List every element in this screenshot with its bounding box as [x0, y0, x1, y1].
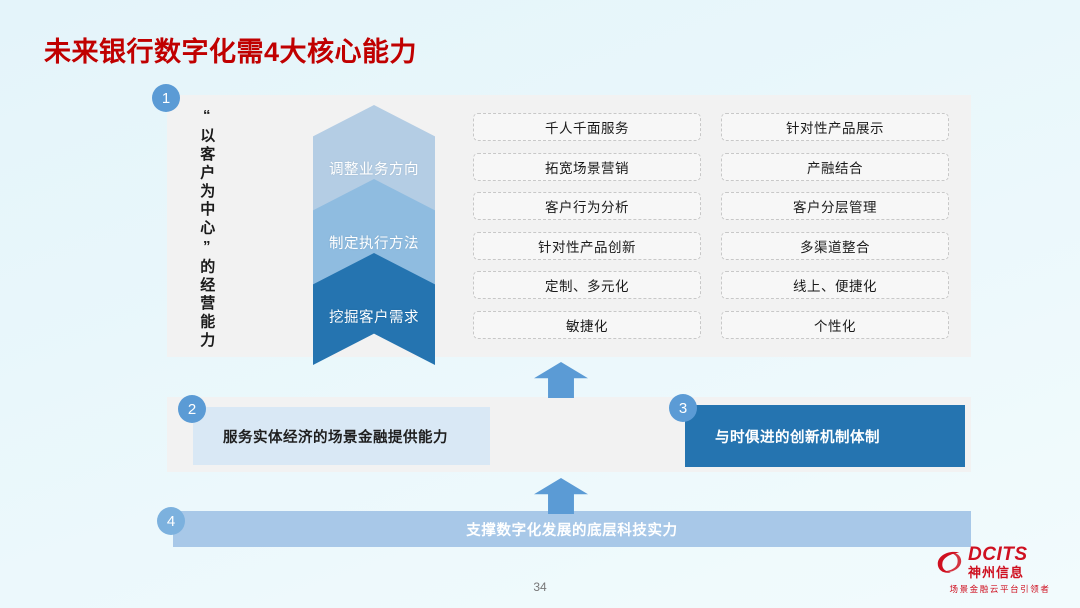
tag-item: 客户行为分析: [473, 192, 701, 220]
vertical-label-wrapper: “以客户为中心”的经营能力: [167, 95, 245, 357]
tag-item: 针对性产品展示: [721, 113, 949, 141]
chevron-stack: 调整业务方向 制定执行方法 挖掘客户需求: [313, 97, 435, 355]
tag-item: 敏捷化: [473, 311, 701, 339]
panel-scene-finance: 服务实体经济的场景金融提供能力: [193, 407, 490, 465]
logo-name-cn: 神州信息: [968, 566, 1028, 579]
panel-innovation-mechanism: 与时俱进的创新机制体制: [685, 405, 965, 467]
panel-technology-foundation: 支撑数字化发展的底层科技实力: [173, 511, 971, 547]
badge-3: 3: [669, 394, 697, 422]
up-arrow-icon-middle: [534, 362, 588, 398]
panel-core-capability: “以客户为中心”的经营能力 调整业务方向 制定执行方法 挖掘客户需求 千人千面服…: [167, 95, 971, 357]
badge-4: 4: [157, 507, 185, 535]
tag-item: 多渠道整合: [721, 232, 949, 260]
logo-tagline: 场景金融云平台引领者: [934, 583, 1066, 595]
logo-top-row: DCITS 神州信息: [934, 544, 1066, 580]
badge-1: 1: [152, 84, 180, 112]
up-arrow-icon-lower: [534, 478, 588, 514]
badge-2: 2: [178, 395, 206, 423]
tag-item: 产融结合: [721, 153, 949, 181]
company-logo: DCITS 神州信息 场景金融云平台引领者: [934, 544, 1066, 598]
logo-wordmark: DCITS 神州信息: [968, 545, 1028, 579]
logo-name-en: DCITS: [968, 545, 1028, 564]
tag-item: 针对性产品创新: [473, 232, 701, 260]
tag-columns: 千人千面服务 拓宽场景营销 客户行为分析 针对性产品创新 定制、多元化 敏捷化 …: [435, 95, 971, 357]
tag-item: 拓宽场景营销: [473, 153, 701, 181]
tag-column-left: 千人千面服务 拓宽场景营销 客户行为分析 针对性产品创新 定制、多元化 敏捷化: [473, 113, 701, 339]
page-title: 未来银行数字化需4大核心能力: [44, 30, 417, 69]
dcits-swirl-icon: [934, 547, 964, 577]
tag-item: 线上、便捷化: [721, 271, 949, 299]
tag-item: 千人千面服务: [473, 113, 701, 141]
tag-item: 定制、多元化: [473, 271, 701, 299]
panel-row-two: 服务实体经济的场景金融提供能力 与时俱进的创新机制体制: [167, 397, 971, 472]
tag-column-right: 针对性产品展示 产融结合 客户分层管理 多渠道整合 线上、便捷化 个性化: [721, 113, 949, 339]
page-number: 34: [0, 580, 1080, 594]
tag-item: 客户分层管理: [721, 192, 949, 220]
tag-item: 个性化: [721, 311, 949, 339]
vertical-label: “以客户为中心”的经营能力: [198, 107, 215, 351]
